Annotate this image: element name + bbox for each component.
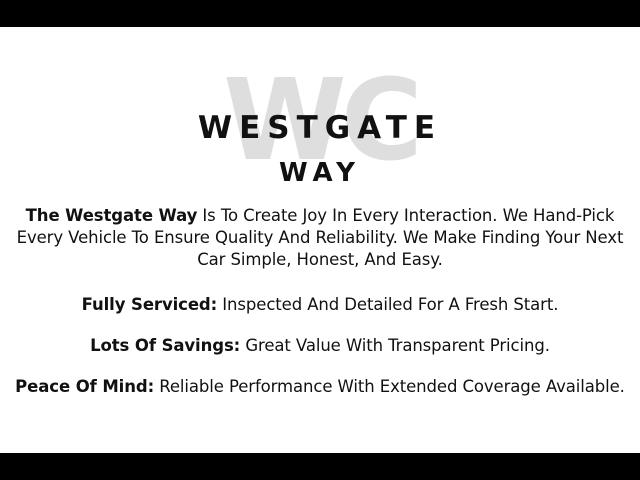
body-copy: The Westgate Way Is To Create Joy In Eve… xyxy=(8,205,632,398)
paragraph-fully-serviced: Fully Serviced: Inspected And Detailed F… xyxy=(8,294,632,316)
logo-area: WC WESTGATE WAY xyxy=(0,27,640,202)
bottom-letterbox-bar xyxy=(0,453,640,480)
info-card: WC WESTGATE WAY The Westgate Way Is To C… xyxy=(0,27,640,453)
top-letterbox-bar xyxy=(0,0,640,27)
brand-name-primary: WESTGATE xyxy=(0,113,640,144)
page-root: WC WESTGATE WAY The Westgate Way Is To C… xyxy=(0,0,640,480)
paragraph-peace-of-mind: Peace Of Mind: Reliable Performance With… xyxy=(8,376,632,398)
paragraph-fully-serviced-lead: Fully Serviced: xyxy=(82,295,218,314)
paragraph-intro: The Westgate Way Is To Create Joy In Eve… xyxy=(8,205,632,271)
paragraph-lots-of-savings: Lots Of Savings: Great Value With Transp… xyxy=(8,335,632,357)
paragraph-peace-of-mind-text: Reliable Performance With Extended Cover… xyxy=(154,377,625,396)
paragraph-lots-of-savings-text: Great Value With Transparent Pricing. xyxy=(240,336,550,355)
paragraph-intro-lead: The Westgate Way xyxy=(26,206,198,225)
paragraph-peace-of-mind-lead: Peace Of Mind: xyxy=(15,377,154,396)
paragraph-fully-serviced-text: Inspected And Detailed For A Fresh Start… xyxy=(217,295,558,314)
brand-name-secondary: WAY xyxy=(0,160,640,186)
paragraph-lots-of-savings-lead: Lots Of Savings: xyxy=(90,336,240,355)
